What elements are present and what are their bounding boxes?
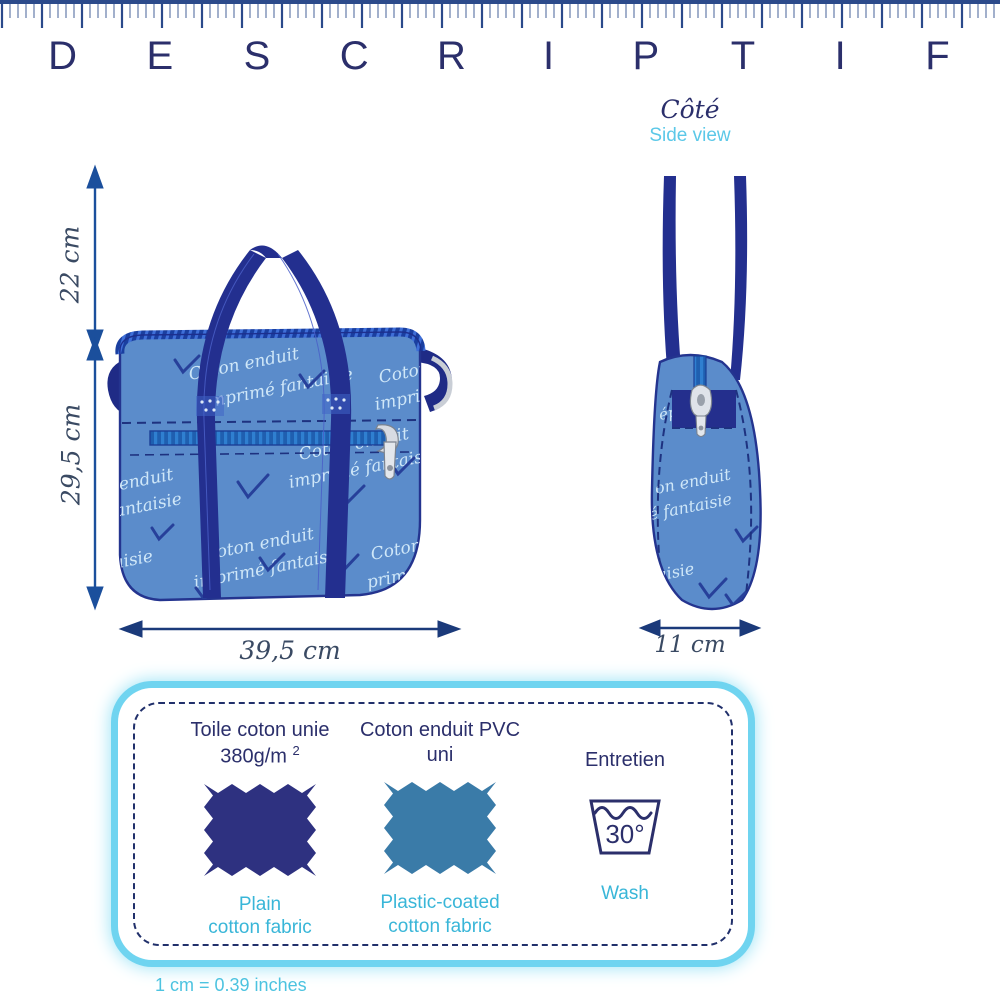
legend-column-care: Entretien 30° Wash: [535, 748, 715, 906]
title-letter-8: I: [792, 34, 889, 79]
swatch-shape: [202, 782, 318, 878]
fabric-swatch-coated-cotton: [340, 780, 540, 881]
legend-fr-label: Toile coton unie 380g/m 2: [165, 718, 355, 770]
title-letter-2: S: [208, 34, 305, 79]
dimension-label-295cm: 29,5 cm: [57, 400, 86, 510]
wash-tub-shape: 30°: [577, 789, 673, 863]
title-letter-4: R: [403, 34, 500, 79]
fabric-swatch-plain-cotton: [165, 782, 355, 883]
bag-front-view: Coton enduit imprimé fantaisie Coton end…: [105, 246, 452, 601]
legend-fr-label: Coton enduit PVC uni: [340, 718, 540, 768]
materials-legend: Toile coton unie 380g/m 2 Plain cotton f…: [133, 702, 733, 946]
dimension-label-22cm: 22 cm: [56, 225, 85, 305]
title-letter-3: C: [306, 34, 403, 79]
dimension-label-395cm: 39,5 cm: [190, 636, 390, 665]
legend-fr-label: Entretien: [535, 748, 715, 773]
superscript-2: 2: [293, 743, 300, 758]
page-title: D E S C R I P T I F: [0, 30, 1000, 82]
wash-temperature: 30°: [605, 819, 644, 849]
bag-side-view: on enduit é fantaisie taisie ép: [647, 176, 760, 609]
wash-tub-icon: 30°: [535, 789, 715, 868]
measuring-ruler: [0, 0, 1000, 32]
dimension-arrow-295cm: [87, 338, 103, 609]
title-letter-7: T: [694, 34, 791, 79]
dimension-arrow-395cm: [120, 621, 460, 637]
legend-en-label: Wash: [535, 882, 715, 906]
front-zipper: [150, 431, 388, 445]
legend-column-plain-cotton: Toile coton unie 380g/m 2 Plain cotton f…: [165, 718, 355, 940]
dimension-label-11cm: 11 cm: [630, 632, 750, 658]
title-letter-9: F: [889, 34, 986, 79]
legend-en-label: Plastic-coated cotton fabric: [340, 891, 540, 939]
swatch-shape: [382, 780, 498, 876]
dimension-arrow-22cm: [87, 166, 103, 352]
unit-conversion-note: 1 cm = 0.39 inches: [155, 975, 307, 996]
ruler-ticks: [0, 0, 1000, 32]
title-letter-6: P: [597, 34, 694, 79]
technical-drawing: Coton enduit imprimé fantaisie Coton end…: [0, 90, 1000, 690]
title-letter-0: D: [14, 34, 111, 79]
title-letter-1: E: [111, 34, 208, 79]
legend-column-coated-cotton: Coton enduit PVC uni Plastic-coated cott…: [340, 718, 540, 939]
legend-en-label: Plain cotton fabric: [165, 893, 355, 941]
title-letter-5: I: [500, 34, 597, 79]
